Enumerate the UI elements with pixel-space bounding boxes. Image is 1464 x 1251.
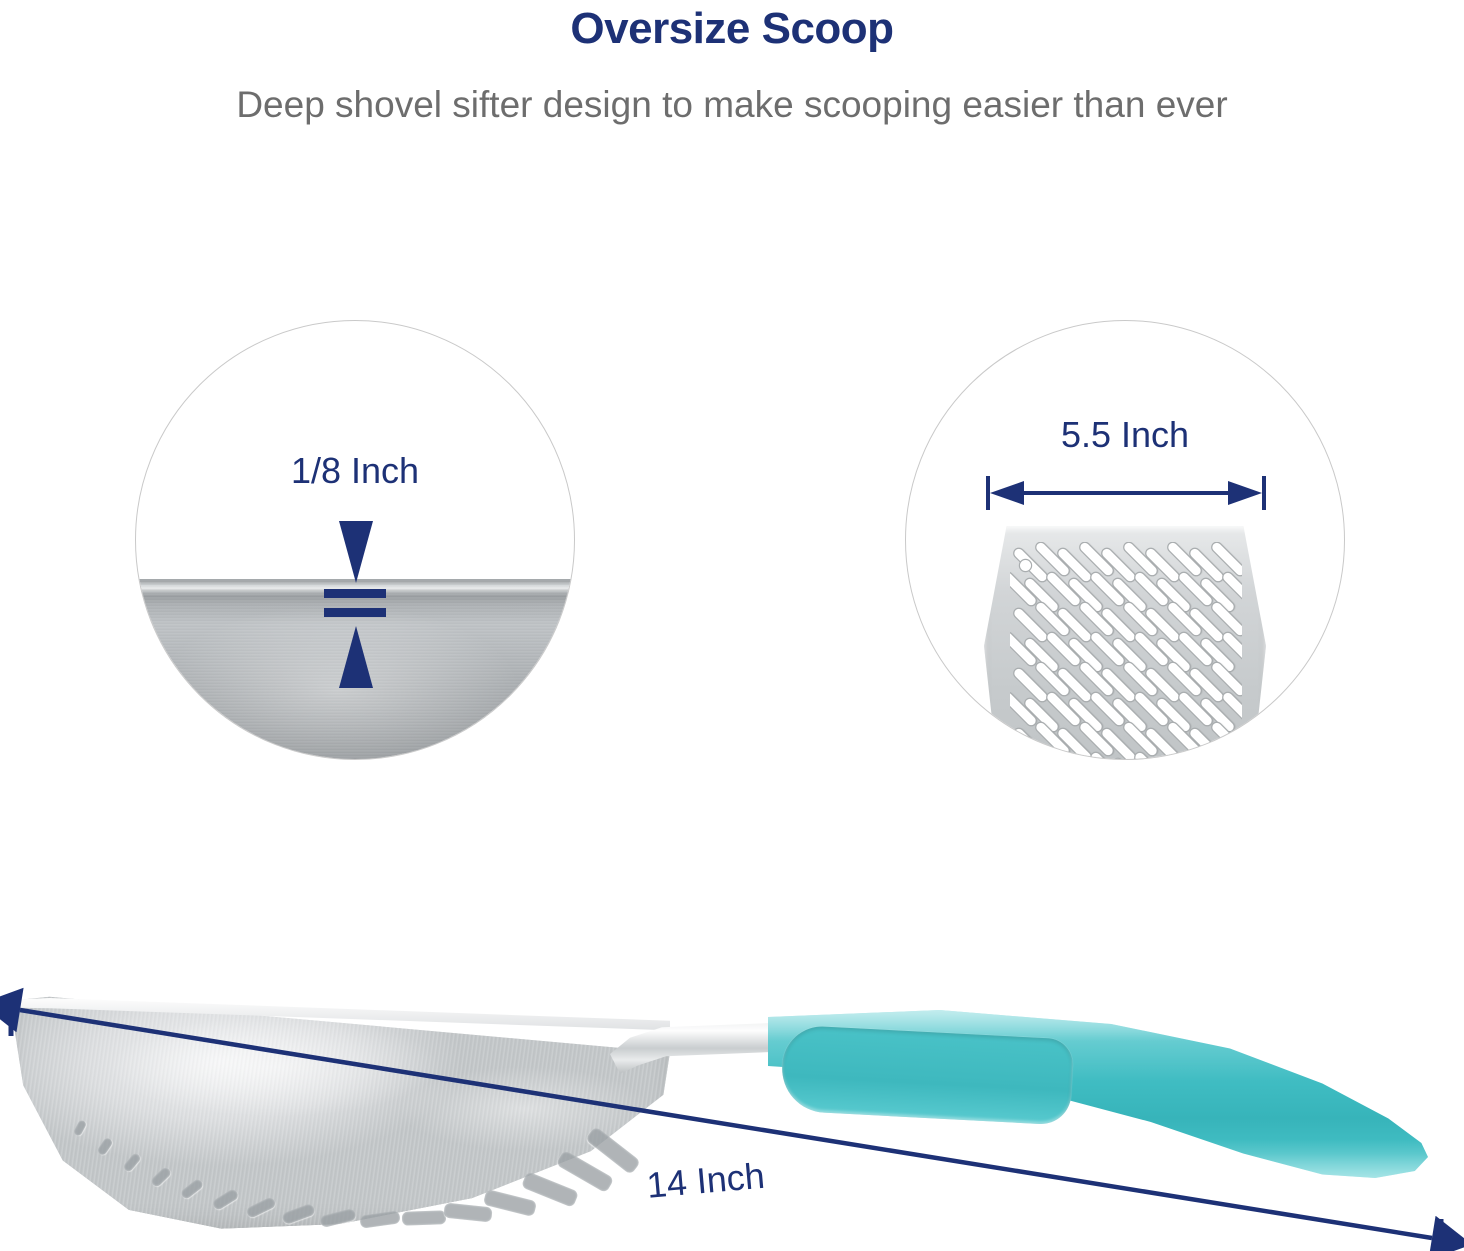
arrow-head-right-icon (1228, 481, 1262, 505)
rim-hole-icon (1020, 560, 1031, 571)
width-dimension-arrow-icon (986, 476, 1266, 510)
product-photo: 14 Inch (0, 960, 1464, 1251)
thickness-arrow-down-icon (339, 521, 373, 583)
thickness-bar-top-icon (324, 589, 386, 598)
page-title: Oversize Scoop (0, 2, 1464, 56)
thickness-arrow-up-icon (339, 626, 373, 688)
arrow-head-left-icon (990, 481, 1024, 505)
width-caption: 5.5 Inch (906, 413, 1344, 457)
thickness-caption: 1/8 Inch (136, 449, 574, 493)
sifter-slot-field (1010, 542, 1242, 760)
dim-tick-right (1262, 476, 1266, 510)
scoop-head-topview-image (984, 526, 1266, 760)
length-dimension-arrow-icon (0, 960, 1464, 1251)
page-subtitle: Deep shovel sifter design to make scoopi… (0, 82, 1464, 128)
detail-circle-thickness: 1/8 Inch (135, 320, 575, 760)
dim-line (1000, 491, 1252, 495)
thickness-bar-bottom-icon (324, 608, 386, 617)
product-infographic: Oversize Scoop Deep shovel sifter design… (0, 0, 1464, 1251)
detail-circle-width: 5.5 Inch (905, 320, 1345, 760)
